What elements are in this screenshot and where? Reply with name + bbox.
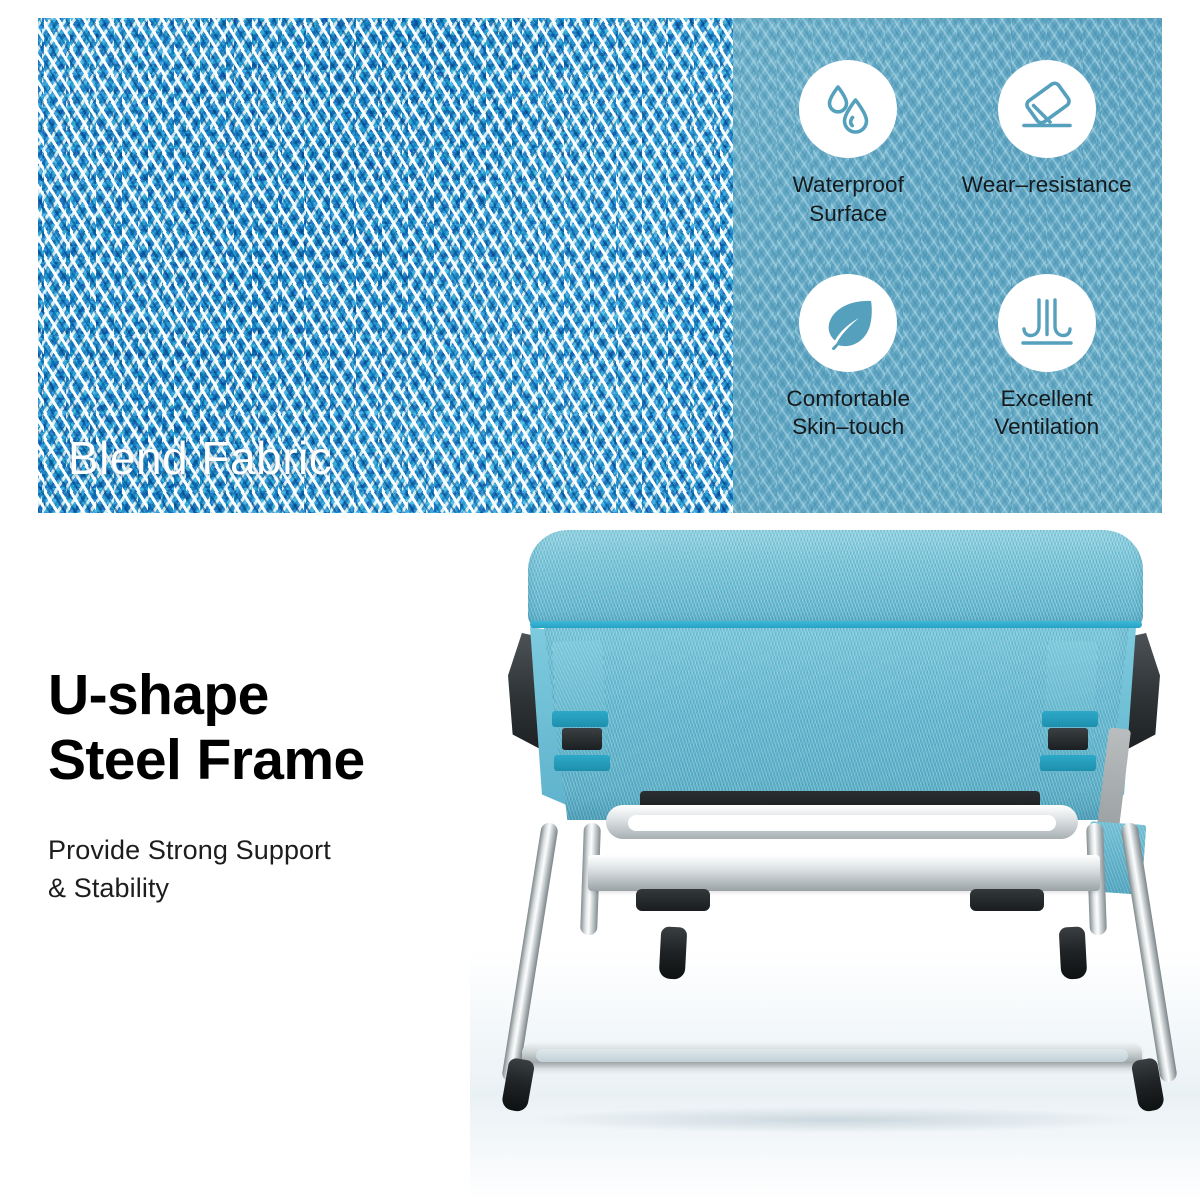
headrest-cushion: [528, 530, 1143, 628]
fabric-feature-banner: Blend Fabric Waterproof Surface: [38, 18, 1162, 513]
chair-illustration: [470, 523, 1200, 1200]
feature-label: Wear–resistance: [962, 171, 1132, 200]
recline-clip-left: [562, 728, 602, 750]
floor-shadow: [530, 1107, 1140, 1133]
water-droplets-icon: [799, 60, 897, 158]
section-headline: U-shape Steel Frame: [48, 663, 488, 793]
feature-panel: Waterproof Surface Wear–resistance: [733, 18, 1162, 513]
recline-clip-right: [1048, 728, 1088, 750]
copy-block: U-shape Steel Frame Provide Strong Suppo…: [48, 663, 488, 908]
feature-comfortable-skin-touch: Comfortable Skin–touch: [749, 274, 948, 488]
headrest-piping: [530, 621, 1142, 628]
rubber-foot: [659, 926, 688, 979]
eraser-icon: [998, 60, 1096, 158]
brace-foot-pad: [970, 889, 1044, 911]
strap-buckle: [554, 755, 610, 771]
feature-label: Excellent Ventilation: [994, 385, 1099, 443]
feature-grid: Waterproof Surface Wear–resistance: [733, 18, 1162, 513]
rubber-foot: [1059, 926, 1088, 979]
steel-frame-section: U-shape Steel Frame Provide Strong Suppo…: [0, 513, 1200, 1200]
feature-wear-resistance: Wear–resistance: [948, 60, 1147, 274]
feature-waterproof-surface: Waterproof Surface: [749, 60, 948, 274]
steel-cross-brace-upper: [588, 855, 1100, 891]
feature-label: Waterproof Surface: [793, 171, 904, 229]
lower-brace-inner: [536, 1049, 1128, 1062]
leaf-icon: [799, 274, 897, 372]
section-subcopy: Provide Strong Support & Stability: [48, 831, 488, 908]
strap-buckle: [552, 711, 608, 727]
brace-foot-pad: [636, 889, 710, 911]
airflow-icon: [998, 274, 1096, 372]
blend-fabric-swatch: Blend Fabric: [38, 18, 733, 513]
feature-excellent-ventilation: Excellent Ventilation: [948, 274, 1147, 488]
strap-buckle: [1040, 755, 1096, 771]
infographic-page: Blend Fabric Waterproof Surface: [0, 0, 1200, 1200]
product-photo-folding-chair: [470, 523, 1200, 1200]
strap-buckle: [1042, 711, 1098, 727]
blend-fabric-label: Blend Fabric: [68, 431, 332, 485]
feature-label: Comfortable Skin–touch: [786, 385, 910, 443]
u-rail-inner: [628, 815, 1056, 831]
